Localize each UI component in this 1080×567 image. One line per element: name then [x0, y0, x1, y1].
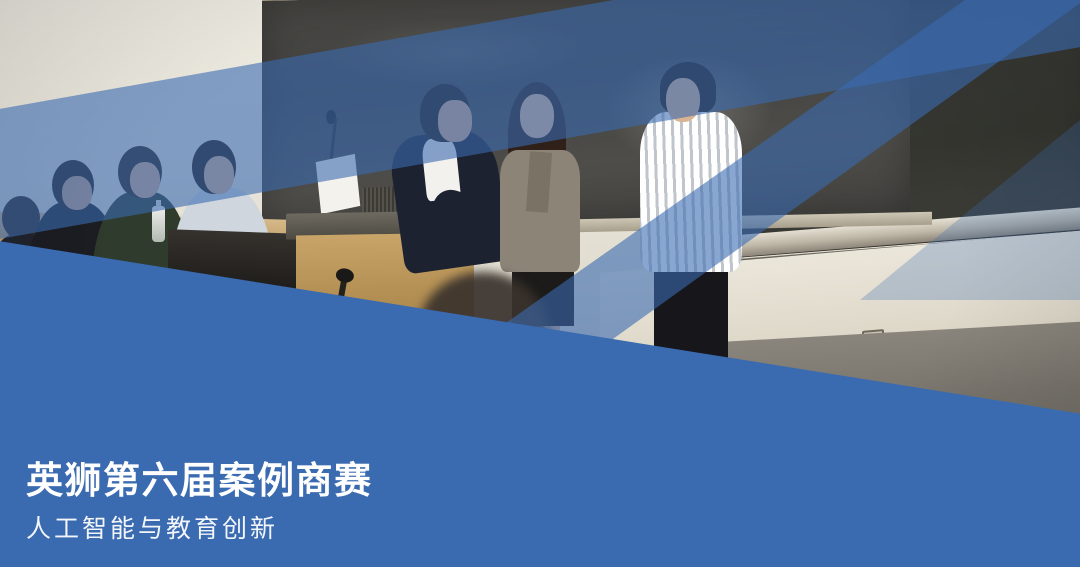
event-poster: 英狮第六届案例商赛 人工智能与教育创新 [0, 0, 1080, 567]
poster-caption: 英狮第六届案例商赛 人工智能与教育创新 [26, 461, 373, 543]
diagonal-band-descending-highlight [860, 120, 1080, 300]
page-title: 英狮第六届案例商赛 [26, 461, 373, 502]
page-subtitle: 人工智能与教育创新 [26, 516, 373, 544]
